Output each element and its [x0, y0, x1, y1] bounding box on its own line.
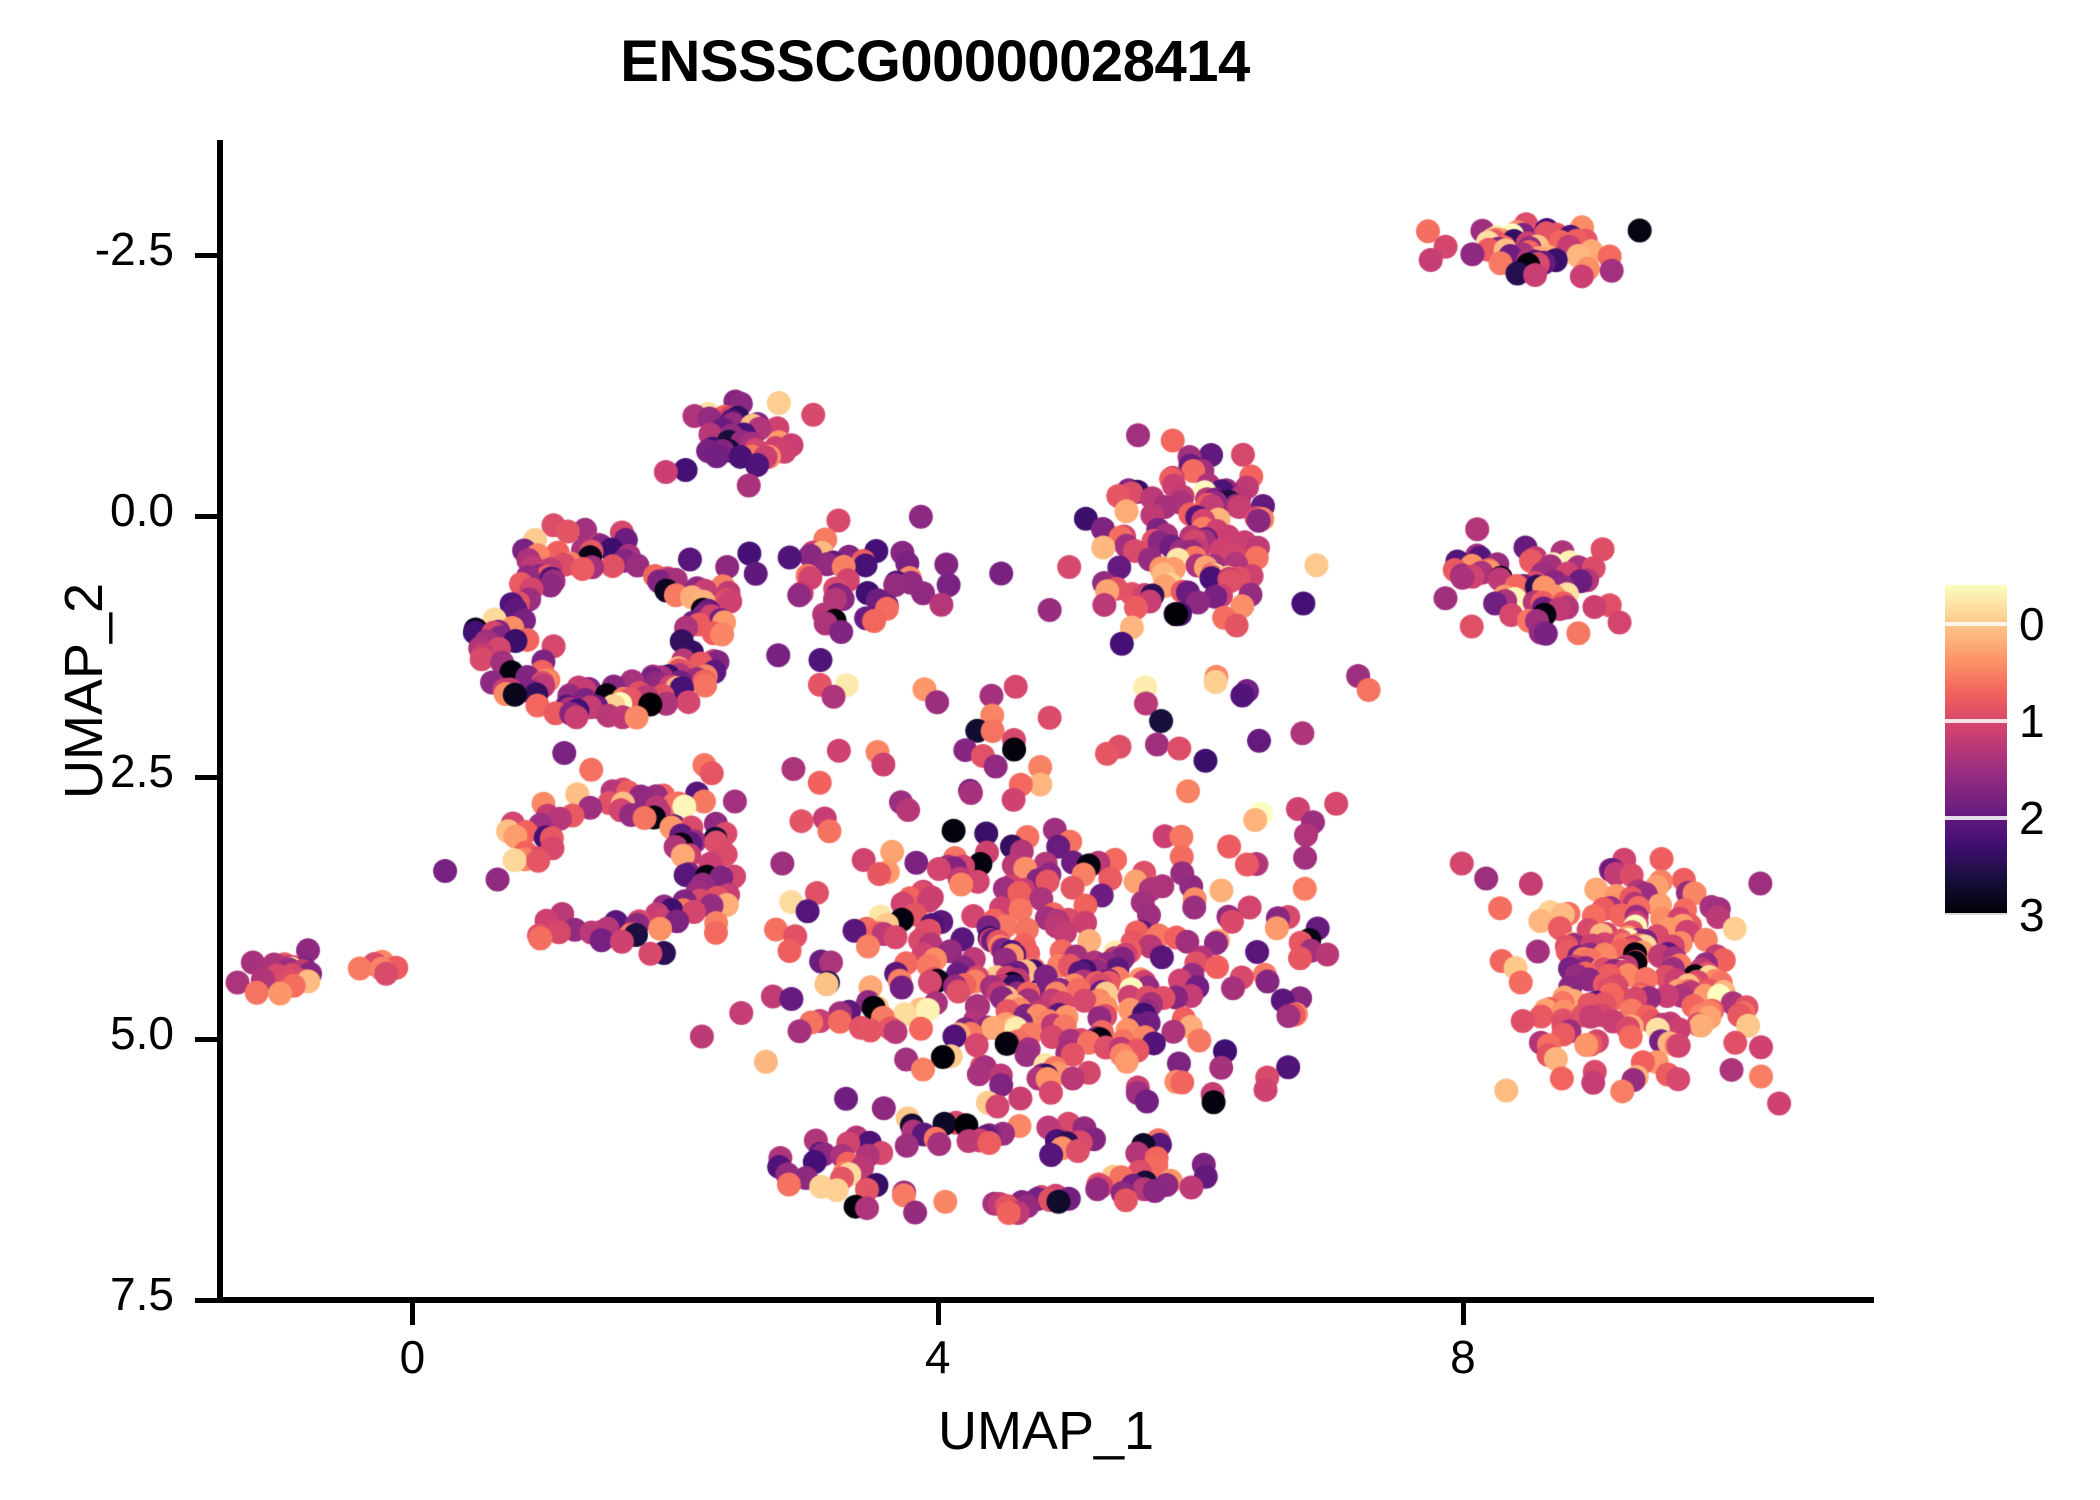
x-tick-mark	[410, 1303, 415, 1325]
plot-panel	[222, 140, 1870, 1300]
x-axis-title: UMAP_1	[222, 1400, 1870, 1462]
y-tick-mark	[195, 1037, 217, 1042]
colorbar-tick-mark	[1945, 816, 2007, 820]
y-tick-mark	[195, 514, 217, 519]
color-legend: 3210	[1945, 585, 2095, 915]
colorbar-tick-mark	[1945, 913, 2007, 917]
colorbar-tick-mark	[1945, 622, 2007, 626]
x-tick-label: 0	[400, 1330, 426, 1384]
colorbar-tick-mark	[1945, 719, 2007, 723]
y-tick-mark	[195, 1298, 217, 1303]
y-tick-mark	[195, 775, 217, 780]
y-tick-label-text: 2.5	[110, 744, 174, 798]
page-title: ENSSSCG00000028414	[0, 28, 1870, 95]
scatter-points-layer	[222, 140, 1870, 1300]
x-tick-label: 8	[1450, 1330, 1476, 1384]
colorbar-tick-label: 1	[2019, 694, 2045, 748]
y-axis-title: UMAP_2	[53, 481, 115, 901]
colorbar-tick-label: 0	[2019, 597, 2045, 651]
colorbar-gradient	[1945, 585, 2007, 915]
x-axis-line	[222, 1297, 1874, 1303]
umap-feature-plot: ENSSSCG00000028414 7.55.02.50.0-2.5 048 …	[0, 0, 2100, 1500]
y-tick-label-text: 7.5	[110, 1267, 174, 1321]
y-axis-line	[217, 140, 223, 1303]
y-tick-mark	[195, 253, 217, 258]
x-tick-label: 4	[925, 1330, 951, 1384]
x-tick-mark	[936, 1303, 941, 1325]
y-tick-label-text: 5.0	[110, 1006, 174, 1060]
y-tick-label-text: 0.0	[110, 483, 174, 537]
colorbar-tick-label: 3	[2019, 888, 2045, 942]
x-tick-mark	[1461, 1303, 1466, 1325]
y-tick-label-text: -2.5	[95, 222, 174, 276]
colorbar-tick-label: 2	[2019, 791, 2045, 845]
